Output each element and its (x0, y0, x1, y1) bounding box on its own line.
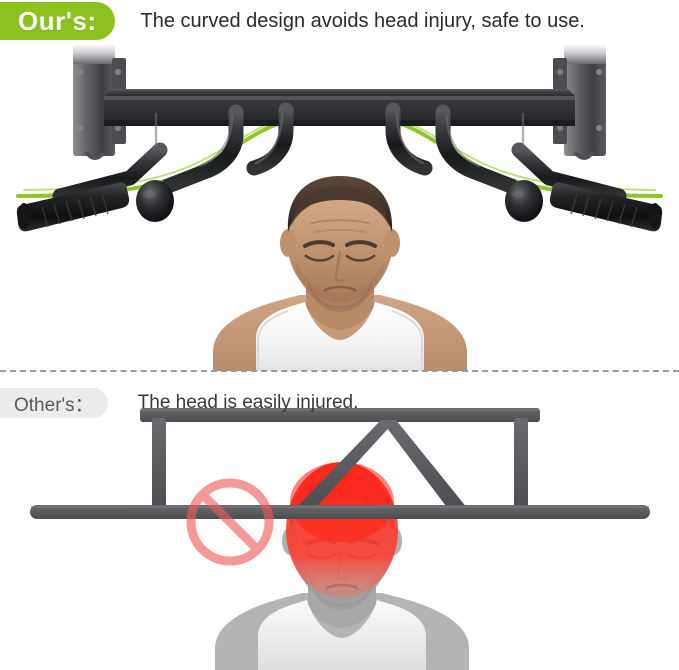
red-head-overlay (286, 462, 398, 598)
our-product-panel: Our's: The curved design avoids head inj… (0, 0, 679, 371)
our-header-row: Our's: The curved design avoids head inj… (0, 2, 679, 40)
prohibition-icon (191, 483, 269, 561)
our-caption: The curved design avoids head injury, sa… (141, 10, 585, 33)
our-product-illustration (0, 0, 679, 371)
athlete-figure (213, 176, 467, 371)
comparison-infographic: Our's: The curved design avoids head inj… (0, 0, 679, 670)
knob-right (505, 180, 543, 222)
other-product-panel: Other's： The head is easily injured. (0, 372, 679, 670)
other-caption: The head is easily injured. (138, 392, 359, 414)
other-header-row: Other's： The head is easily injured. (0, 388, 679, 418)
other-badge: Other's： (0, 388, 108, 418)
main-crossbeam (104, 89, 575, 126)
knob-left (136, 180, 174, 222)
our-badge: Our's: (0, 2, 115, 40)
